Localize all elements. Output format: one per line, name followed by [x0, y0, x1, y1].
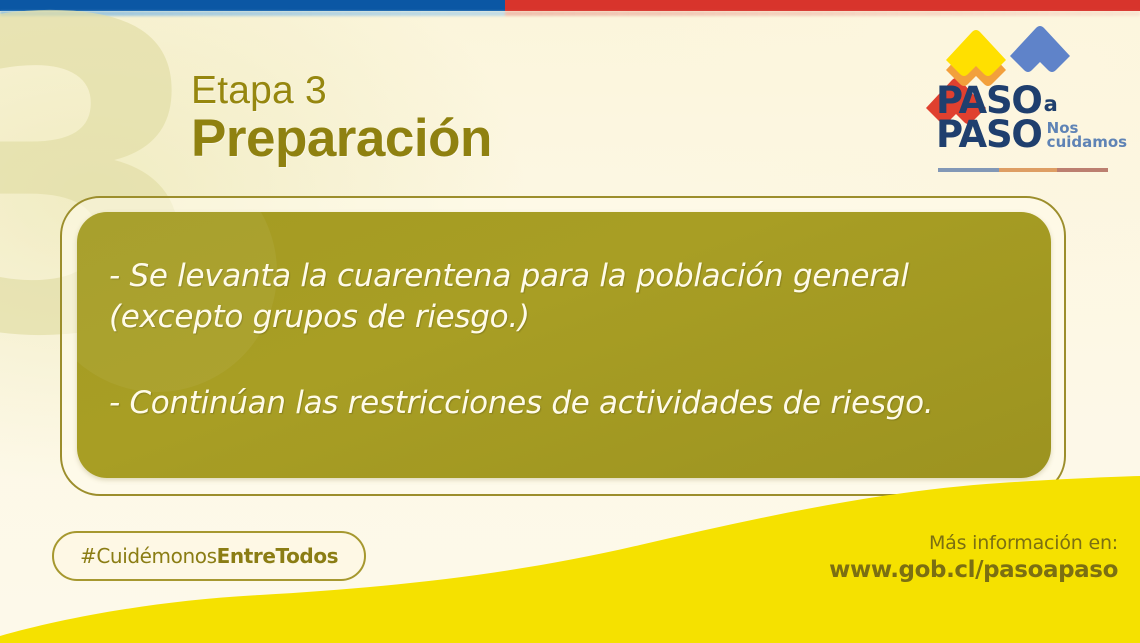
paso-a-paso-stage-slide: 3 Etapa 3 Preparación PASO a PASO Nos cu… [0, 0, 1140, 643]
content-card: - Se levanta la cuarentena para la pobla… [77, 212, 1051, 478]
logo-underline-bar [938, 168, 1108, 172]
logo-line-bottom: PASO Nos cuidamos [936, 118, 1127, 152]
page-title: Etapa 3 Preparación [191, 71, 492, 166]
bullet-item: - Se levanta la cuarentena para la pobla… [109, 256, 1017, 338]
footer-url[interactable]: www.gob.cl/pasoapaso [829, 556, 1118, 584]
logo-word-a: a [1044, 95, 1058, 115]
footer-info: Más información en: www.gob.cl/pasoapaso [829, 532, 1118, 584]
stage-name: Preparación [191, 112, 492, 166]
hashtag-prefix: #Cuidémonos [80, 544, 217, 568]
bullet-item: - Continúan las restricciones de activid… [109, 383, 1017, 424]
logo-word-paso-bottom: PASO [936, 118, 1042, 152]
logo-tagline-line2: cuidamos [1047, 133, 1127, 151]
flag-bar-red-segment [505, 0, 1140, 11]
hashtag-suffix: EntreTodos [217, 544, 339, 568]
logo-tagline: Nos cuidamos [1047, 121, 1127, 150]
chevron-blue-icon [1010, 26, 1070, 72]
hashtag-badge: #CuidémonosEntreTodos [52, 531, 366, 581]
footer-info-label: Más información en: [829, 532, 1118, 555]
logo-wordmark: PASO a PASO Nos cuidamos [936, 84, 1127, 153]
stage-label: Etapa 3 [191, 71, 492, 110]
paso-a-paso-logo: PASO a PASO Nos cuidamos [886, 22, 1126, 172]
